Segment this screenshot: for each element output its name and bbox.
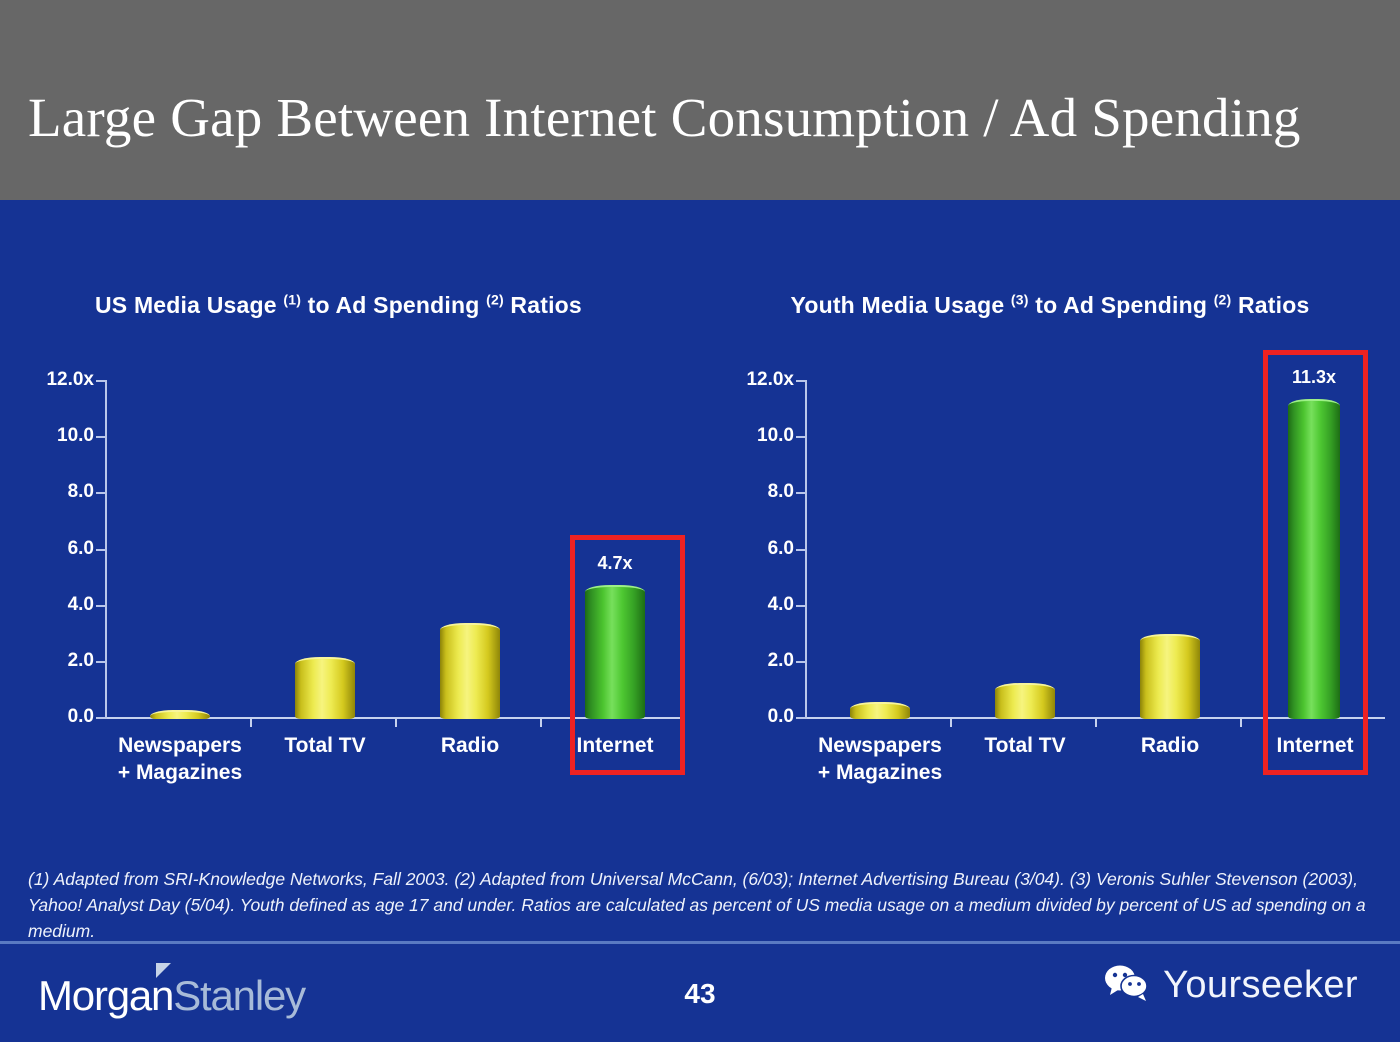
- y-tick-6-right: [796, 549, 807, 551]
- bar-radio: [440, 623, 500, 719]
- category-label-line-2: + Magazines: [90, 759, 270, 786]
- x-tick-1-right: [950, 717, 952, 727]
- plot-area-left: 12.0x 10.0 8.0 6.0 4.0 2.0 0.0 4.7x: [10, 270, 690, 830]
- y-tick-4-right: [796, 605, 807, 607]
- y-tick-12-right: [796, 380, 807, 382]
- morgan-stanley-triangle-icon: [156, 963, 171, 978]
- y-tick-label-8-right: 8.0: [716, 481, 794, 503]
- y-tick-label-10-right: 10.0: [716, 425, 794, 447]
- y-tick-2: [96, 661, 107, 663]
- y-tick-8: [96, 492, 107, 494]
- chart-panel-youth-media-usage: Youth Media Usage (3) to Ad Spending (2)…: [710, 270, 1390, 830]
- chart-panel-us-media-usage: US Media Usage (1) to Ad Spending (2) Ra…: [10, 270, 690, 830]
- y-tick-2-right: [796, 661, 807, 663]
- x-tick-3: [540, 717, 542, 727]
- y-tick-10-right: [796, 436, 807, 438]
- page-title: Large Gap Between Internet Consumption /…: [28, 88, 1378, 148]
- y-tick-label-4: 4.0: [16, 594, 94, 616]
- x-tick-1: [250, 717, 252, 727]
- x-tick-2: [395, 717, 397, 727]
- brand-watermark: Yourseeker: [1103, 963, 1358, 1008]
- y-tick-label-12: 12.0x: [16, 369, 94, 391]
- x-tick-2-right: [1095, 717, 1097, 727]
- y-tick-label-0: 0.0: [16, 706, 94, 728]
- y-tick-label-2: 2.0: [16, 650, 94, 672]
- y-tick-0: [96, 717, 107, 719]
- x-tick-3-right: [1240, 717, 1242, 727]
- y-tick-12: [96, 380, 107, 382]
- footer-divider: [0, 941, 1400, 944]
- bar-newspapers-magazines-right: [850, 702, 910, 719]
- bar-radio-right: [1140, 634, 1200, 719]
- y-tick-label-6: 6.0: [16, 538, 94, 560]
- plot-area-right: 12.0x 10.0 8.0 6.0 4.0 2.0 0.0 11.3x New…: [710, 270, 1390, 830]
- y-tick-label-12-right: 12.0x: [716, 369, 794, 391]
- y-tick-label-8: 8.0: [16, 481, 94, 503]
- category-label-line-2-right: + Magazines: [790, 759, 970, 786]
- y-tick-6: [96, 549, 107, 551]
- y-tick-label-6-right: 6.0: [716, 538, 794, 560]
- brand-label: Yourseeker: [1163, 964, 1358, 1007]
- y-tick-label-0-right: 0.0: [716, 706, 794, 728]
- y-tick-label-10: 10.0: [16, 425, 94, 447]
- y-tick-label-4-right: 4.0: [716, 594, 794, 616]
- y-tick-label-2-right: 2.0: [716, 650, 794, 672]
- y-tick-0-right: [796, 717, 807, 719]
- y-tick-4: [96, 605, 107, 607]
- footnote-text: (1) Adapted from SRI-Knowledge Networks,…: [28, 866, 1373, 944]
- wechat-icon: [1103, 963, 1151, 1008]
- bar-total-tv-right: [995, 683, 1055, 719]
- y-tick-10: [96, 436, 107, 438]
- highlight-box-internet-left: [570, 535, 685, 775]
- slide-canvas: Large Gap Between Internet Consumption /…: [0, 0, 1400, 1042]
- bar-newspapers-magazines: [150, 710, 210, 719]
- bar-total-tv: [295, 657, 355, 719]
- y-tick-8-right: [796, 492, 807, 494]
- highlight-box-internet-right: [1263, 350, 1368, 775]
